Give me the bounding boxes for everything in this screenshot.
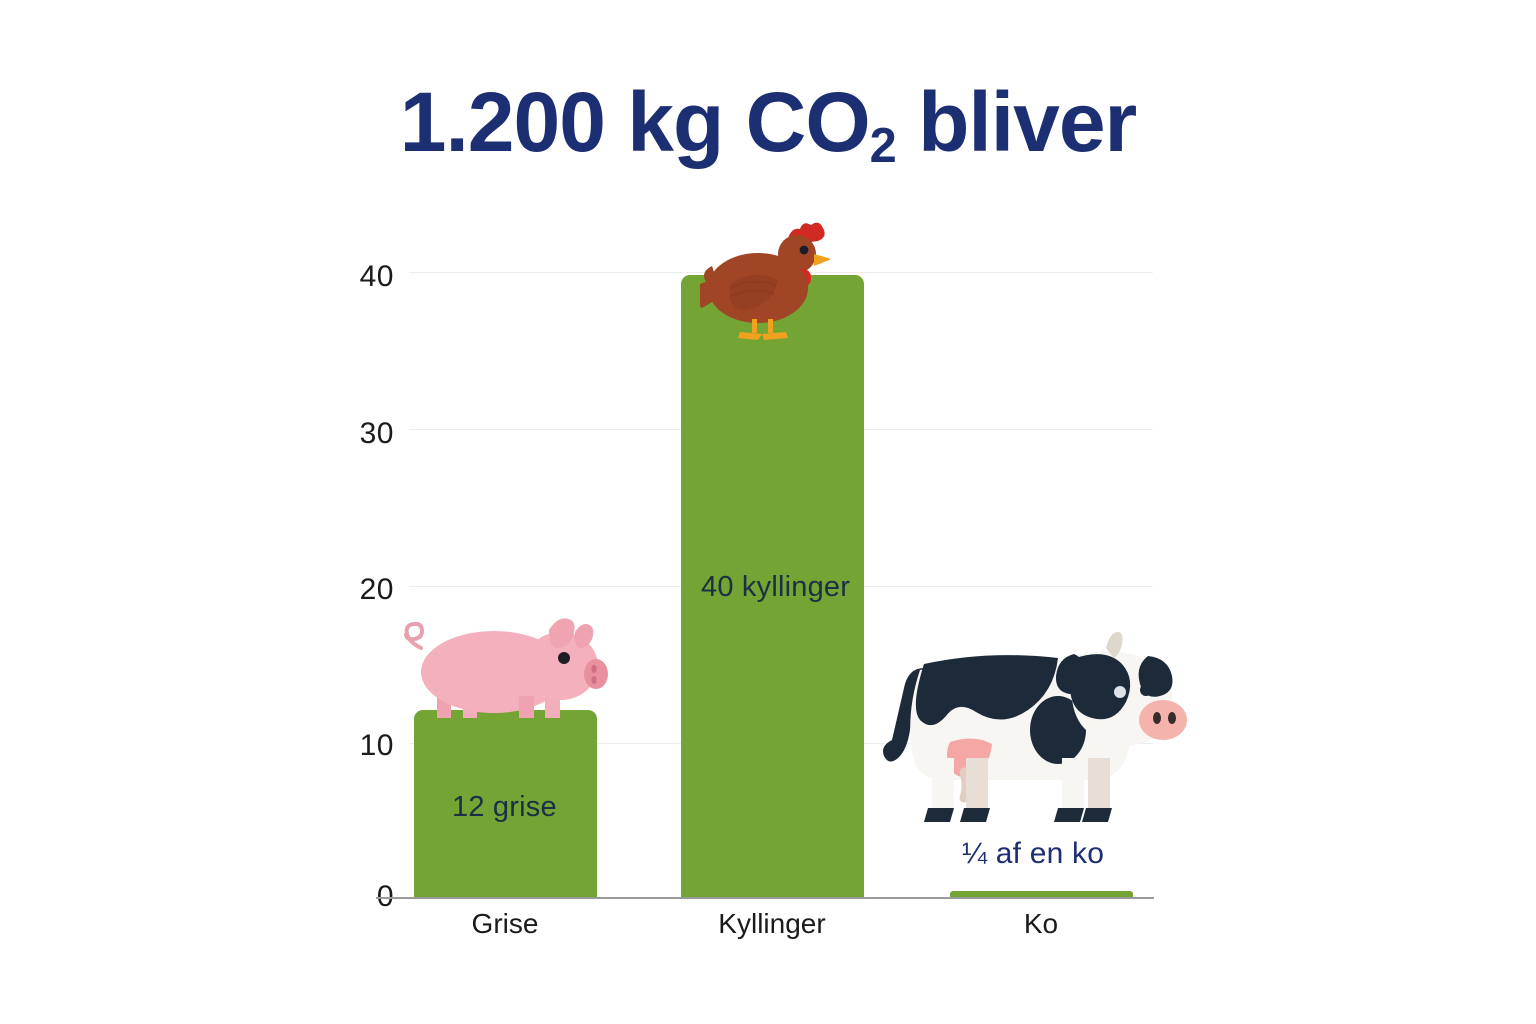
xtick-label-kyllinger: Kyllinger: [718, 908, 825, 940]
ytick-label-10: 10: [274, 729, 394, 763]
ytick-label-40: 40: [274, 260, 394, 294]
ytick-label-20: 20: [274, 573, 394, 607]
pig-illustration: [399, 600, 614, 720]
bar-label-grise: 12 grise: [452, 791, 557, 824]
cow-illustration: [880, 630, 1190, 830]
plot-area: 40 30 20 10 0 12 grise 40 kyllinger ¼ af…: [0, 0, 1536, 1024]
x-axis-line: [376, 897, 1154, 899]
bar-label-ko: ¼ af en ko: [962, 837, 1104, 871]
chicken-illustration: [700, 222, 830, 344]
ytick-label-30: 30: [274, 417, 394, 451]
bar-label-kyllinger: 40 kyllinger: [701, 571, 850, 604]
xtick-label-grise: Grise: [472, 908, 539, 940]
chart-canvas: 1.200 kg CO2 bliver 40 30 20 10 0 12 gri…: [0, 0, 1536, 1024]
xtick-label-ko: Ko: [1024, 908, 1058, 940]
